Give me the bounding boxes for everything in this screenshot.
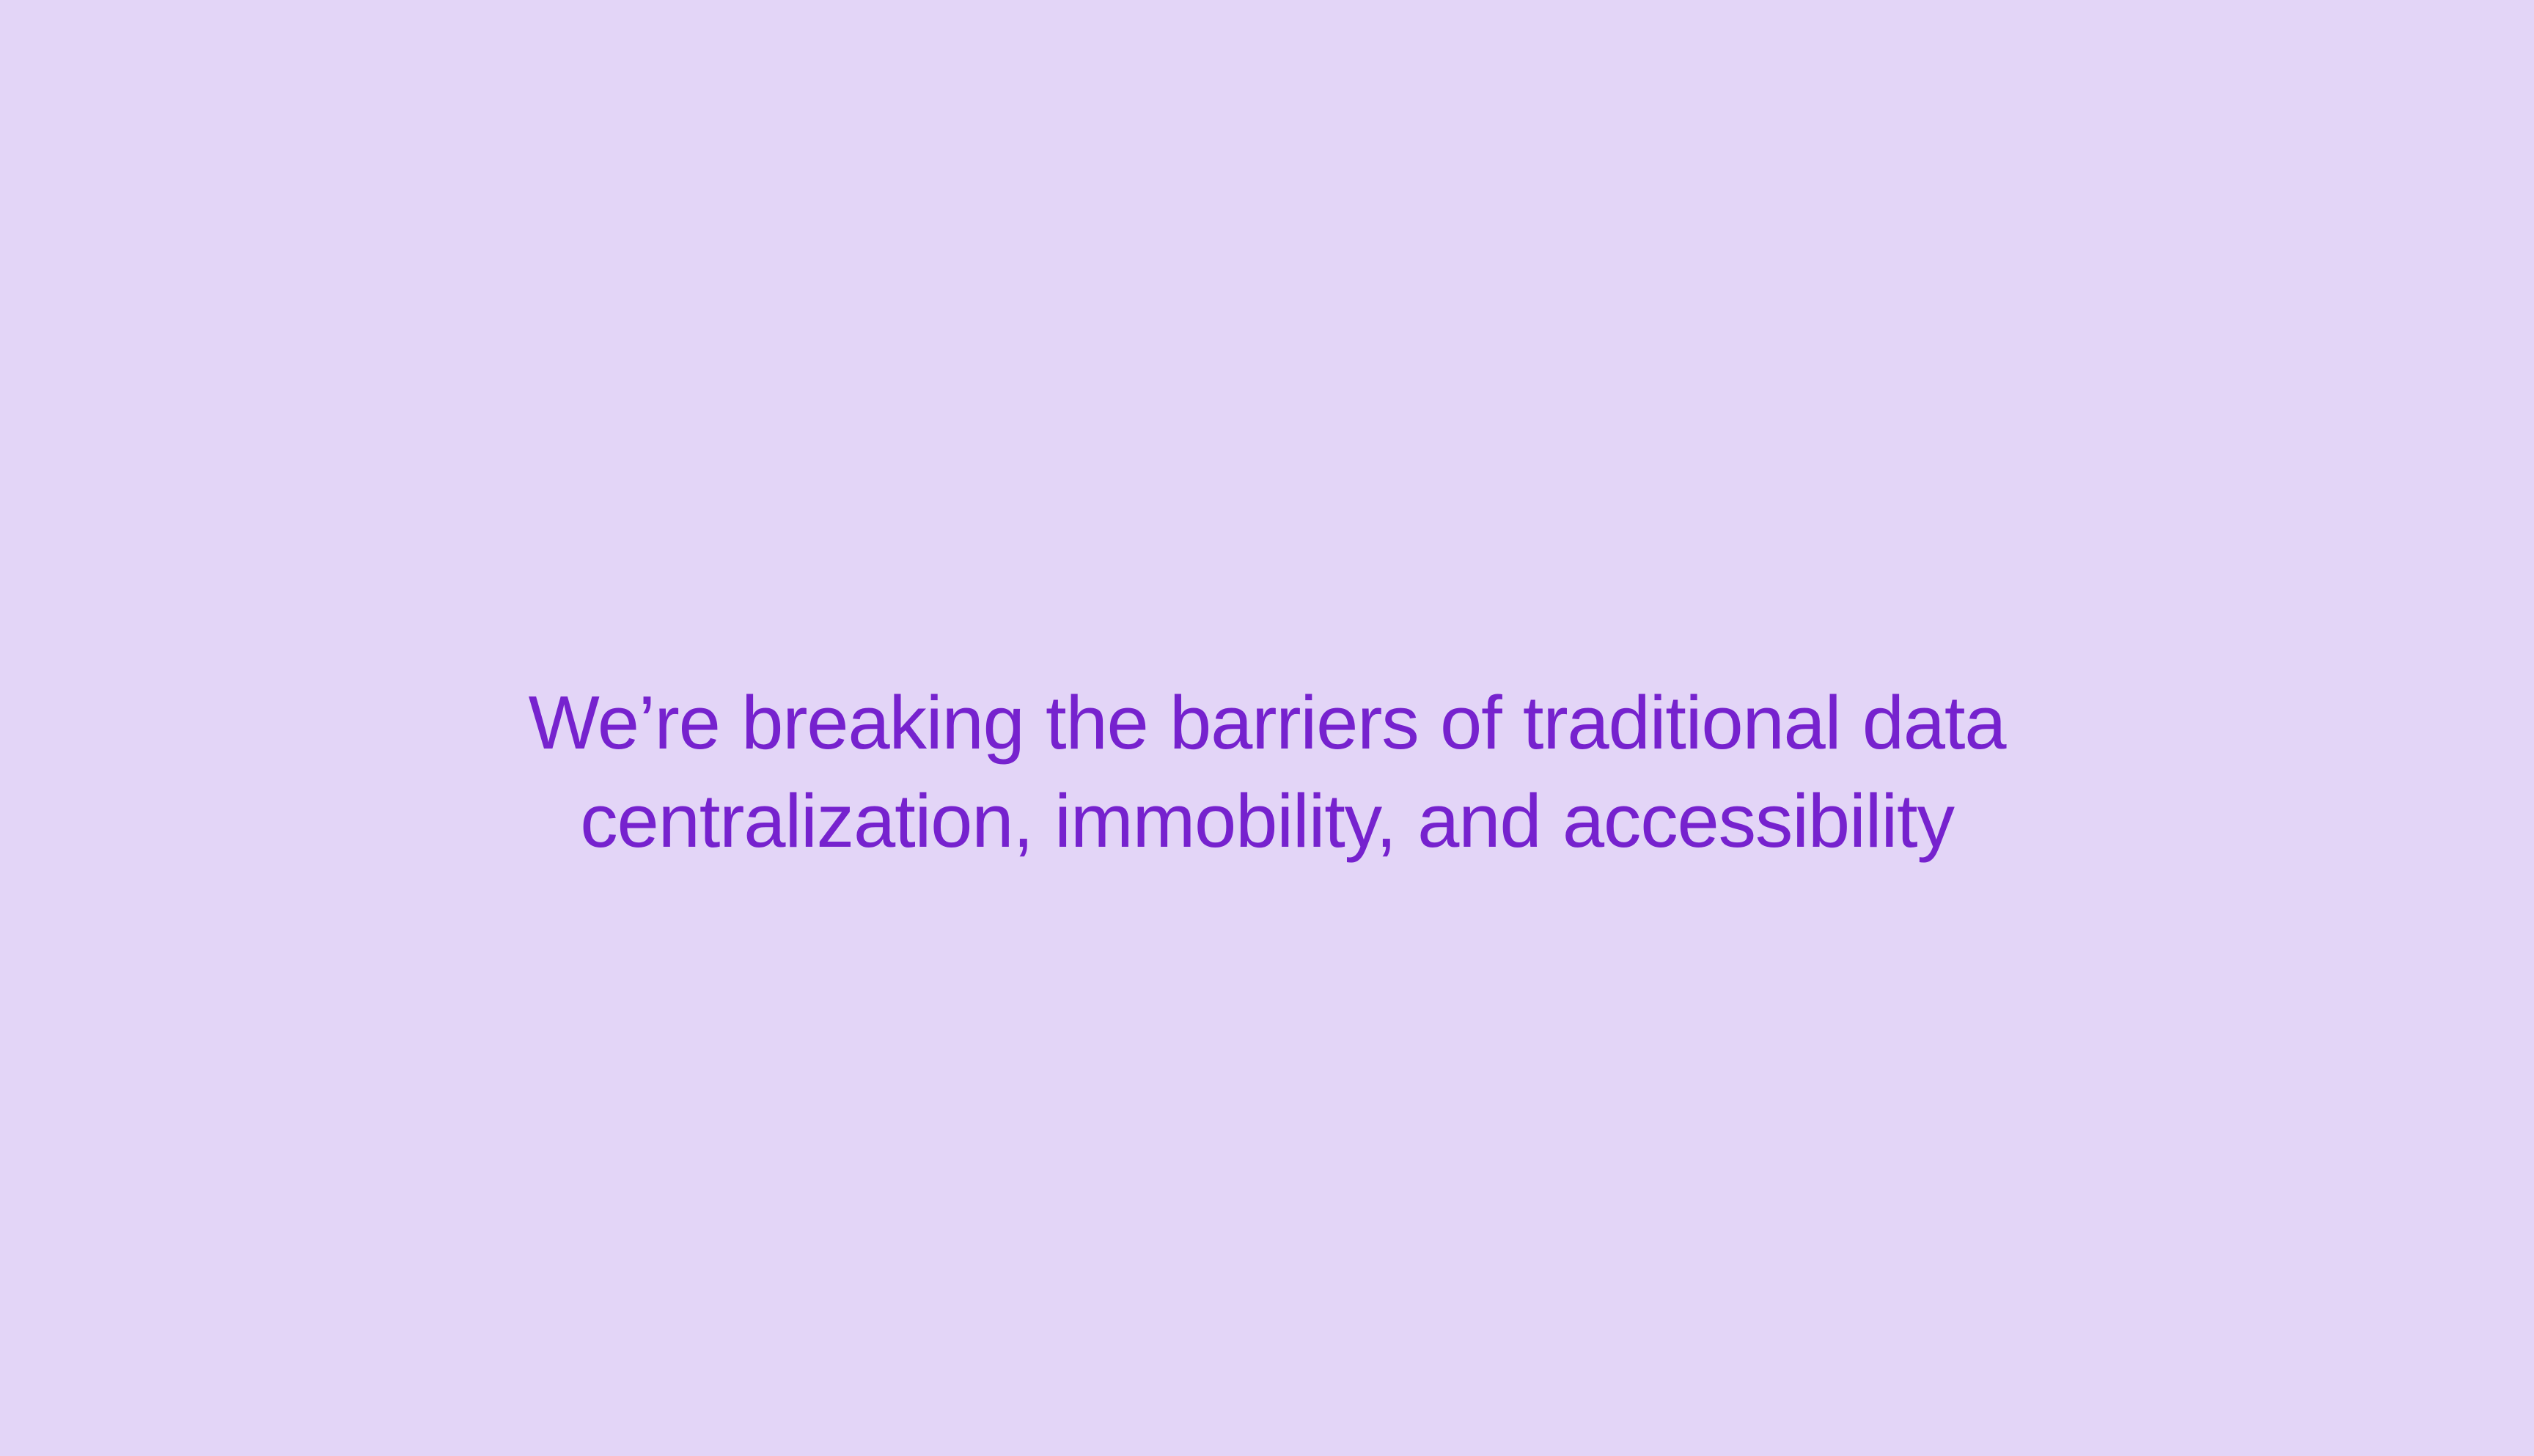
headline-line-1: We’re breaking the barriers of tradition… bbox=[387, 674, 2147, 772]
page-title: We’re breaking the barriers of tradition… bbox=[387, 674, 2147, 870]
headline-line-2: centralization, immobility, and accessib… bbox=[387, 772, 2147, 870]
headline-block: We’re breaking the barriers of tradition… bbox=[0, 0, 2534, 1456]
slide-canvas: We’re breaking the barriers of tradition… bbox=[0, 0, 2534, 1456]
